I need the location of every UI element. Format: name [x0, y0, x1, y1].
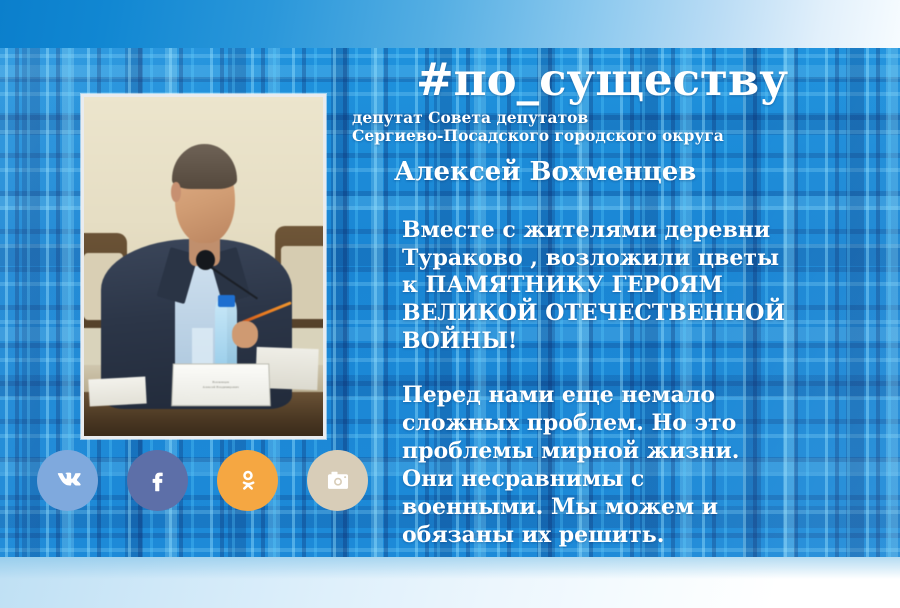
photo-bottle-cap — [218, 295, 235, 307]
message-paragraph-1: Вместе с жителями деревни Тураково , воз… — [352, 217, 882, 357]
p1-line-1: Вместе с жителями деревни — [402, 217, 882, 245]
social-links-row — [37, 450, 368, 511]
p2-line-3: проблемы мирной жизни. — [402, 438, 882, 466]
photo-ear — [171, 182, 181, 202]
social-media-banner: Вохменцев Алексей Владимирович — [0, 0, 900, 608]
odnoklassniki-icon — [234, 467, 262, 495]
photo-nameplate: Вохменцев Алексей Владимирович — [172, 364, 271, 406]
position-subtitle: депутат Совета депутатов Сергиево-Посадс… — [352, 109, 882, 144]
nameplate-surname: Вохменцев — [213, 380, 230, 384]
deputy-photo-frame: Вохменцев Алексей Владимирович — [81, 94, 326, 439]
p2-line-5: военными. Мы можем и — [402, 494, 882, 522]
photo-hand — [232, 321, 258, 348]
p2-line-1: Перед нами еще немало — [402, 382, 882, 410]
social-link-facebook[interactable] — [127, 450, 188, 511]
p1-line-5: ВОЙНЫ! — [402, 328, 882, 356]
photo-papers-left — [88, 377, 147, 407]
photo-drinking-glass — [192, 328, 214, 369]
nameplate-fullname: Алексей Владимирович — [203, 385, 239, 389]
hashtag-title: #по_существу — [352, 56, 882, 103]
deputy-photo: Вохменцев Алексей Владимирович — [84, 97, 323, 436]
subtitle-line-1: депутат Совета депутатов — [352, 109, 882, 126]
p2-line-6: обязаны их решить. — [402, 522, 882, 550]
bottom-gradient-strip — [0, 557, 900, 608]
vk-icon — [53, 466, 83, 496]
p1-line-4: ВЕЛИКОЙ ОТЕЧЕСТВЕННОЙ — [402, 300, 882, 328]
subtitle-line-2: Сергиево-Посадского городского округа — [352, 127, 882, 144]
message-paragraph-2: Перед нами еще немало сложных проблем. Н… — [352, 382, 882, 550]
social-link-odnoklassniki[interactable] — [217, 450, 278, 511]
facebook-icon — [143, 466, 173, 496]
deputy-name: Алексей Вохменцев — [352, 158, 882, 187]
top-gradient-strip — [0, 0, 900, 50]
p2-line-4: Они несравнимы с — [402, 466, 882, 494]
text-content-column: #по_существу депутат Совета депутатов Се… — [352, 56, 882, 550]
instagram-icon — [324, 467, 352, 495]
p2-line-2: сложных проблем. Но это — [402, 410, 882, 438]
p1-line-2: Тураково , возложили цветы — [402, 245, 882, 273]
social-link-vk[interactable] — [37, 450, 98, 511]
p1-line-3: к ПАМЯТНИКУ ГЕРОЯМ — [402, 272, 882, 300]
